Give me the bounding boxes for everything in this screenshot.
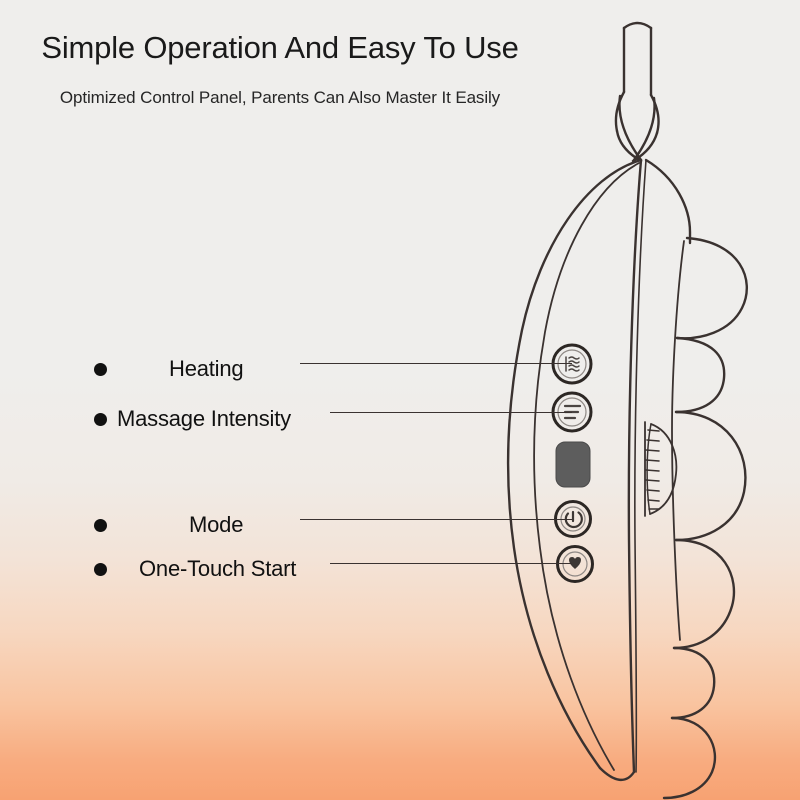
- massage-device-illustration: [0, 0, 800, 800]
- callout-label-mode: Mode: [189, 512, 243, 538]
- callout-mode: Mode: [94, 510, 243, 540]
- node-1: [677, 238, 747, 338]
- heating-button[interactable]: [553, 345, 591, 383]
- callout-massage-intensity: Massage Intensity: [94, 404, 291, 434]
- strap-top: [624, 23, 651, 28]
- strap-sides: [624, 28, 651, 95]
- leader-line-heating: [300, 363, 572, 364]
- start-button[interactable]: [558, 547, 593, 582]
- bullet-icon: [94, 413, 107, 426]
- leader-line-massage-intensity: [330, 412, 572, 413]
- callout-label-heating: Heating: [169, 356, 243, 382]
- node-6: [664, 718, 715, 798]
- body-right-top: [646, 160, 690, 243]
- bullet-icon: [94, 519, 107, 532]
- node-3: [676, 412, 745, 540]
- bullet-icon: [94, 363, 107, 376]
- callout-label-massage-intensity: Massage Intensity: [117, 406, 291, 432]
- node-5: [672, 648, 714, 718]
- heat-waves-icon: [566, 357, 579, 371]
- callout-one-touch-start: One-Touch Start: [94, 554, 296, 584]
- node-2: [676, 338, 724, 412]
- strap-cord-a: [619, 96, 641, 160]
- bullet-icon: [94, 563, 107, 576]
- body-bottom-tip: [600, 768, 634, 780]
- callout-label-one-touch-start: One-Touch Start: [139, 556, 296, 582]
- leader-line-mode: [300, 519, 572, 520]
- leader-line-one-touch-start: [330, 563, 572, 564]
- display-screen[interactable]: [556, 442, 590, 487]
- poster-canvas: Simple Operation And Easy To Use Optimiz…: [0, 0, 800, 800]
- node-4: [674, 540, 734, 648]
- strap-cord-b: [634, 98, 655, 160]
- callout-heating: Heating: [94, 354, 243, 384]
- page-subtitle: Optimized Control Panel, Parents Can Als…: [0, 88, 560, 108]
- body-right-edge: [672, 241, 684, 640]
- page-title: Simple Operation And Easy To Use: [0, 30, 560, 66]
